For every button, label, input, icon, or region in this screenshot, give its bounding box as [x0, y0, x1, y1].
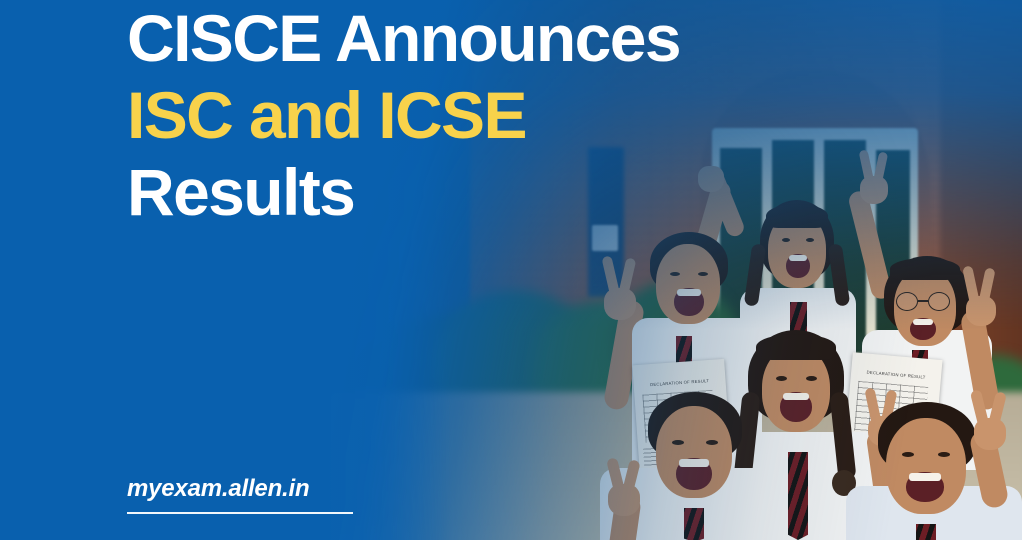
site-url-block[interactable]: myexam.allen.in [127, 474, 353, 514]
headline-line-3: Results [127, 154, 767, 231]
headline-line-2: ISC and ICSE [127, 77, 767, 154]
site-url-underline [127, 512, 353, 514]
headline-line-1: CISCE Announces [127, 0, 767, 77]
result-announcement-banner: DECLARATION OF RESULT DECLARATION OF RES… [0, 0, 1022, 540]
page-title: CISCE Announces ISC and ICSE Results [127, 0, 767, 231]
site-url-label[interactable]: myexam.allen.in [127, 474, 353, 504]
